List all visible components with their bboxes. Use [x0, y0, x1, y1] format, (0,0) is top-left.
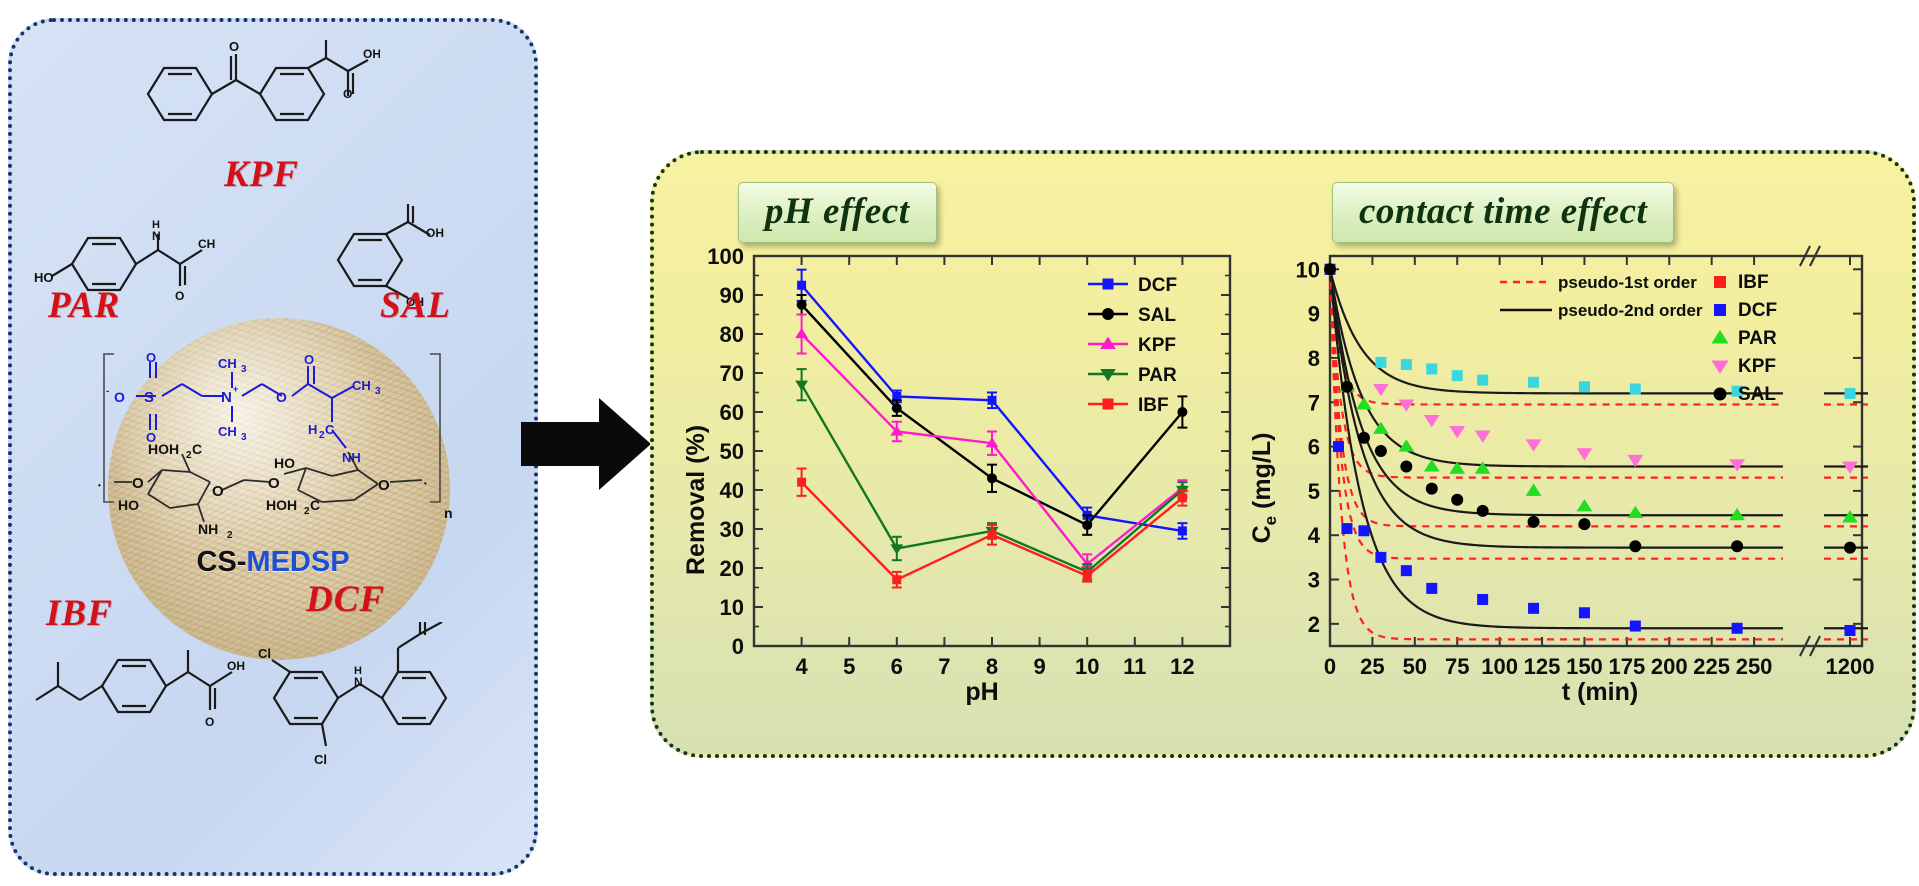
- data-marker: [1630, 621, 1641, 632]
- ph-effect-title: pH effect: [738, 182, 937, 243]
- y-tick-label: 0: [732, 634, 744, 659]
- svg-text:CH: CH: [218, 424, 237, 439]
- molecule-label-dcf: DCF: [306, 578, 385, 621]
- y-tick-label: 50: [720, 439, 744, 464]
- x-tick-label: 11: [1123, 654, 1146, 679]
- data-marker: [1842, 462, 1858, 474]
- data-marker: [1333, 441, 1344, 452]
- legend-label-IBF: IBF: [1138, 395, 1169, 416]
- svg-text:N: N: [221, 389, 232, 406]
- dcf-structure-icon: Cl Cl H N O OH: [250, 622, 490, 782]
- svg-text:O: O: [343, 87, 352, 101]
- svg-text:CH: CH: [352, 378, 371, 393]
- data-marker: [1475, 430, 1491, 442]
- data-marker: [1400, 461, 1412, 473]
- svg-text:HO: HO: [274, 455, 295, 471]
- legend-label-SAL: SAL: [1138, 305, 1176, 326]
- legend-label-KPF: KPF: [1738, 356, 1776, 377]
- svg-text:O: O: [229, 39, 239, 54]
- ph-x-axis-title: pH: [965, 678, 998, 706]
- svg-text:OH: OH: [426, 226, 444, 240]
- x-tick-label: 12: [1170, 654, 1194, 679]
- x-tick-label: 4: [795, 654, 808, 679]
- data-marker: [1451, 494, 1463, 506]
- svg-text:3: 3: [241, 364, 247, 375]
- y-tick-label: 4: [1308, 523, 1321, 548]
- data-marker: [1452, 370, 1463, 381]
- pseudo-1st-order-fit: [1330, 269, 1783, 404]
- legend-label-pseudo-1st order: pseudo-1st order: [1558, 273, 1697, 292]
- data-marker: [1324, 263, 1336, 275]
- y-tick-label: 80: [720, 322, 744, 347]
- data-marker: [1178, 493, 1187, 502]
- svg-text:O: O: [205, 715, 214, 729]
- data-marker: [1579, 607, 1590, 618]
- y-tick-label: 6: [1308, 435, 1320, 460]
- data-marker: [1375, 445, 1387, 457]
- legend-label-PAR: PAR: [1738, 328, 1777, 349]
- legend-label-DCF: DCF: [1138, 275, 1177, 296]
- data-marker: [1629, 540, 1641, 552]
- x-tick-label: 9: [1033, 654, 1045, 679]
- data-marker: [1373, 422, 1389, 434]
- y-tick-label: 60: [720, 400, 744, 425]
- data-marker: [1526, 439, 1542, 451]
- data-marker: [892, 575, 901, 584]
- legend-label-KPF: KPF: [1138, 335, 1176, 356]
- ph-effect-chart: 0102030405060708090100456789101112 DCFSA…: [682, 238, 1242, 708]
- x-tick-label: 6: [891, 654, 903, 679]
- data-marker: [1630, 383, 1641, 394]
- data-marker: [1358, 432, 1370, 444]
- x-tick-label: 5: [843, 654, 855, 679]
- data-marker: [1711, 361, 1728, 374]
- data-marker: [1341, 381, 1353, 393]
- x-tick-label: 125: [1524, 654, 1561, 679]
- time-y-axis-title: Ce (mg/L): [1250, 433, 1280, 544]
- svg-text:H: H: [308, 422, 317, 437]
- data-marker: [1577, 448, 1593, 460]
- svg-text:S: S: [144, 389, 154, 406]
- data-marker: [988, 396, 997, 405]
- svg-text:n: n: [444, 505, 453, 521]
- svg-text:CH: CH: [198, 237, 215, 251]
- svg-text:O: O: [268, 475, 280, 492]
- molecule-label-ibf: IBF: [46, 592, 113, 635]
- svg-text:O: O: [378, 477, 390, 494]
- svg-text:HOH: HOH: [148, 441, 179, 457]
- svg-text:N: N: [152, 229, 161, 243]
- data-marker: [1528, 516, 1540, 528]
- x-tick-label: 8: [986, 654, 998, 679]
- x-tick-label: 225: [1693, 654, 1730, 679]
- data-marker: [1103, 399, 1114, 410]
- data-marker: [1375, 357, 1386, 368]
- data-marker: [795, 381, 808, 391]
- data-marker: [1373, 384, 1389, 396]
- data-marker: [1475, 461, 1491, 473]
- data-marker: [1577, 499, 1593, 511]
- data-marker: [1477, 375, 1488, 386]
- data-marker: [988, 530, 997, 539]
- svg-text:Cl: Cl: [314, 752, 327, 767]
- legend-label-pseudo-2nd order: pseudo-2nd order: [1558, 301, 1703, 320]
- data-marker: [1356, 397, 1372, 409]
- x-tick-label: 1200: [1826, 654, 1875, 679]
- data-marker: [1178, 526, 1187, 535]
- ibf-structure-icon: O OH: [34, 634, 259, 744]
- kpf-structure-icon: O CH O OH: [130, 38, 380, 148]
- svg-text:CH: CH: [318, 38, 335, 41]
- x-tick-label: 25: [1360, 654, 1384, 679]
- data-marker: [1729, 508, 1745, 520]
- svg-text:C: C: [325, 422, 335, 437]
- svg-text:HO: HO: [34, 270, 54, 285]
- svg-text:•: •: [424, 479, 427, 488]
- data-marker: [1526, 484, 1542, 496]
- data-marker: [1627, 506, 1643, 518]
- data-marker: [1398, 399, 1414, 411]
- svg-text:-: -: [106, 386, 109, 397]
- x-tick-label: 10: [1075, 654, 1099, 679]
- svg-text:Cl: Cl: [258, 646, 271, 661]
- x-tick-label: 150: [1566, 654, 1603, 679]
- x-tick-label: 100: [1481, 654, 1518, 679]
- data-marker: [1845, 388, 1856, 399]
- molecule-label-par: PAR: [48, 284, 120, 327]
- data-marker: [1714, 304, 1726, 316]
- material-suffix: MEDSP: [246, 546, 349, 578]
- data-marker: [1714, 388, 1727, 401]
- data-marker: [1401, 565, 1412, 576]
- y-tick-label: 20: [720, 556, 744, 581]
- svg-text:3: 3: [375, 386, 381, 397]
- svg-text:O: O: [401, 204, 411, 205]
- data-marker: [890, 544, 903, 554]
- data-marker: [1083, 571, 1092, 580]
- y-tick-label: 30: [720, 517, 744, 542]
- x-tick-label: 7: [938, 654, 950, 679]
- pseudo-2nd-order-fit: [1330, 269, 1783, 466]
- data-marker: [1711, 330, 1728, 343]
- data-marker: [1103, 279, 1114, 290]
- time-x-axis-title: t (min): [1562, 678, 1638, 706]
- data-marker: [1424, 415, 1440, 427]
- svg-text:OH: OH: [363, 47, 380, 61]
- data-marker: [1845, 625, 1856, 636]
- data-marker: [1627, 455, 1643, 467]
- svg-text:O: O: [175, 289, 184, 303]
- y-tick-label: 5: [1308, 479, 1320, 504]
- y-tick-label: 2: [1308, 612, 1320, 637]
- data-marker: [1578, 518, 1590, 530]
- svg-text:C: C: [310, 497, 320, 513]
- svg-text:O: O: [276, 389, 287, 405]
- y-tick-label: 100: [707, 244, 744, 269]
- data-marker: [795, 328, 808, 338]
- molecule-label-sal: SAL: [380, 284, 451, 327]
- x-tick-label: 175: [1608, 654, 1645, 679]
- legend-label-IBF: IBF: [1738, 272, 1769, 293]
- svg-text:O: O: [212, 483, 224, 500]
- process-arrow-icon: [521, 398, 651, 490]
- data-marker: [1426, 483, 1438, 495]
- y-tick-label: 10: [720, 595, 744, 620]
- svg-text:OH: OH: [227, 659, 245, 673]
- svg-text:NH: NH: [198, 521, 218, 537]
- svg-text:HOH: HOH: [266, 497, 297, 513]
- svg-text:O: O: [132, 475, 144, 492]
- svg-text:2: 2: [227, 530, 233, 541]
- data-marker: [1341, 523, 1352, 534]
- data-marker: [1401, 359, 1412, 370]
- y-tick-label: 70: [720, 361, 744, 386]
- contact-time-effect-title: contact time effect: [1332, 182, 1674, 243]
- source-materials-panel: O CH O OH KPF HO H N O CH PAR: [8, 18, 538, 876]
- data-marker: [1477, 505, 1489, 517]
- x-tick-label: 0: [1324, 654, 1336, 679]
- data-marker: [797, 300, 807, 310]
- data-marker: [797, 281, 806, 290]
- x-tick-label: 50: [1403, 654, 1427, 679]
- legend-label-SAL: SAL: [1738, 384, 1776, 405]
- data-marker: [1358, 525, 1369, 536]
- y-tick-label: 9: [1308, 302, 1320, 327]
- svg-text:N: N: [354, 675, 363, 689]
- molecule-label-kpf: KPF: [224, 153, 299, 196]
- x-tick-label: 250: [1736, 654, 1773, 679]
- data-marker: [1082, 520, 1092, 530]
- y-tick-label: 40: [720, 478, 744, 503]
- data-marker: [1426, 364, 1437, 375]
- material-prefix: CS-: [196, 546, 246, 578]
- material-name-label: CS-MEDSP: [12, 546, 534, 579]
- ph-y-axis-title: Removal (%): [682, 425, 710, 575]
- results-panel: pH effect contact time effect 0102030405…: [650, 150, 1916, 758]
- data-marker: [1102, 308, 1114, 320]
- data-marker: [987, 473, 997, 483]
- x-tick-label: 75: [1445, 654, 1469, 679]
- data-marker: [1477, 594, 1488, 605]
- svg-text:CH: CH: [218, 356, 237, 371]
- cs-medsp-polymer-structure: O - S O O N + CH3 CH3 O O CH3 H2C NH: [70, 342, 480, 567]
- data-marker: [1375, 552, 1386, 563]
- data-marker: [1528, 377, 1539, 388]
- data-marker: [1579, 381, 1590, 392]
- data-marker: [1426, 583, 1437, 594]
- y-tick-label: 8: [1308, 346, 1320, 371]
- data-marker: [892, 403, 902, 413]
- svg-text:OH: OH: [438, 622, 456, 625]
- data-marker: [797, 478, 806, 487]
- svg-text:C: C: [192, 441, 202, 457]
- svg-text:3: 3: [241, 432, 247, 443]
- data-marker: [1177, 407, 1187, 417]
- svg-text:•: •: [98, 481, 101, 490]
- y-tick-label: 90: [720, 283, 744, 308]
- legend-label-PAR: PAR: [1138, 365, 1177, 386]
- legend-label-DCF: DCF: [1738, 300, 1777, 321]
- pseudo-1st-order-fit: [1330, 269, 1783, 639]
- svg-text:O: O: [146, 350, 156, 365]
- x-tick-label: 200: [1651, 654, 1688, 679]
- y-tick-label: 7: [1308, 390, 1320, 415]
- data-marker: [1731, 540, 1743, 552]
- y-tick-label: 10: [1296, 257, 1320, 282]
- data-marker: [1732, 623, 1743, 634]
- pseudo-2nd-order-fit: [1330, 269, 1783, 628]
- svg-text:O: O: [114, 389, 125, 405]
- data-marker: [1714, 276, 1726, 288]
- svg-text:HO: HO: [118, 497, 139, 513]
- svg-text:+: +: [233, 384, 238, 394]
- svg-text:O: O: [304, 352, 314, 367]
- pseudo-1st-order-fit: [1330, 269, 1783, 477]
- data-marker: [1844, 542, 1856, 554]
- data-marker: [1449, 426, 1465, 438]
- y-tick-label: 3: [1308, 568, 1320, 593]
- contact-time-chart: 2345678910025507510012515017520022525012…: [1250, 238, 1900, 708]
- data-marker: [1528, 603, 1539, 614]
